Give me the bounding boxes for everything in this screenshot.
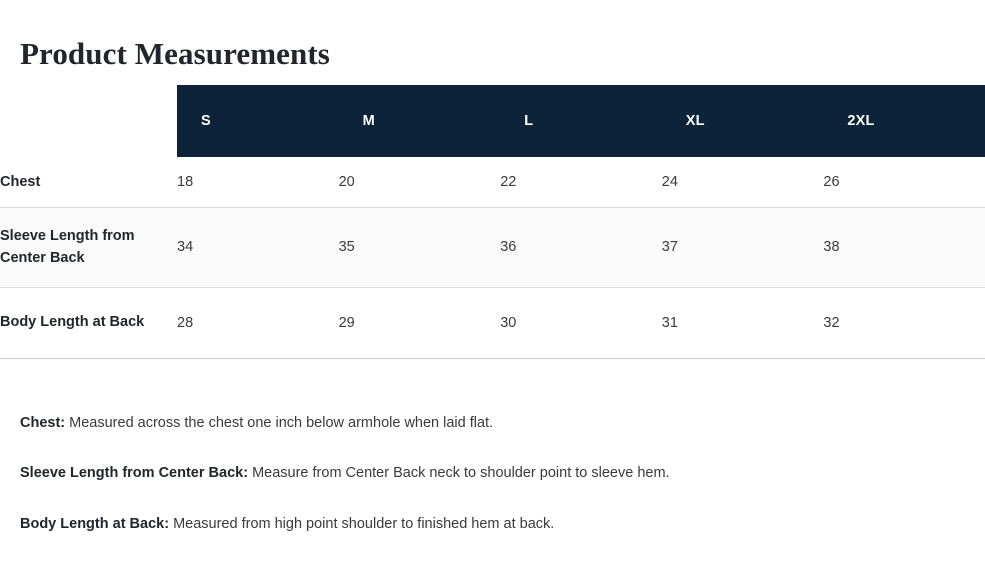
table-row: Sleeve Length from Center Back 34 35 36 …: [0, 207, 985, 287]
cell-chest-s: 18: [177, 157, 339, 207]
table-corner-header: [0, 85, 177, 157]
cell-body-m: 29: [339, 287, 501, 358]
product-measurements-page: Product Measurements S M L XL 2XL Chest …: [0, 0, 985, 562]
note-sleeve-length-description: Measure from Center Back neck to shoulde…: [252, 465, 669, 481]
row-label-chest: Chest: [0, 157, 177, 207]
cell-sleeve-xl: 37: [662, 207, 824, 287]
note-body-length-term: Body Length at Back:: [20, 516, 169, 532]
note-chest-description: Measured across the chest one inch below…: [69, 415, 493, 431]
column-header-xl-label: XL: [662, 113, 824, 129]
note-body-length-description: Measured from high point shoulder to fin…: [173, 516, 554, 532]
cell-chest-m: 20: [339, 157, 501, 207]
cell-body-xl: 31: [662, 287, 824, 358]
column-header-2xl-label: 2XL: [823, 113, 985, 129]
column-header-2xl: 2XL: [823, 85, 985, 157]
cell-body-l: 30: [500, 287, 662, 358]
column-header-l-label: L: [500, 113, 662, 129]
cell-chest-xl: 24: [662, 157, 824, 207]
note-chest-term: Chest:: [20, 415, 65, 431]
cell-sleeve-s: 34: [177, 207, 339, 287]
row-label-sleeve-length-from-center-back: Sleeve Length from Center Back: [0, 207, 177, 287]
page-title: Product Measurements: [20, 35, 330, 74]
note-sleeve-length: Sleeve Length from Center Back: Measure …: [20, 463, 965, 485]
table-body: Chest 18 20 22 24 26 Sleeve Length from …: [0, 157, 985, 358]
row-label-body-length-at-back: Body Length at Back: [0, 287, 177, 358]
table-header-row: S M L XL 2XL: [0, 85, 985, 157]
column-header-l: L: [500, 85, 662, 157]
cell-body-2xl: 32: [823, 287, 985, 358]
cell-sleeve-2xl: 38: [823, 207, 985, 287]
cell-sleeve-l: 36: [500, 207, 662, 287]
column-header-m: M: [339, 85, 501, 157]
column-header-s-label: S: [177, 113, 339, 129]
cell-body-s: 28: [177, 287, 339, 358]
table-row: Chest 18 20 22 24 26: [0, 157, 985, 207]
note-sleeve-length-term: Sleeve Length from Center Back:: [20, 465, 248, 481]
column-header-s: S: [177, 85, 339, 157]
column-header-m-label: M: [339, 113, 501, 129]
measurements-table: S M L XL 2XL Chest 18 20 22 24 26 Sleeve…: [0, 85, 985, 359]
table-header: S M L XL 2XL: [0, 85, 985, 157]
table-row: Body Length at Back 28 29 30 31 32: [0, 287, 985, 358]
cell-chest-2xl: 26: [823, 157, 985, 207]
note-chest: Chest: Measured across the chest one inc…: [20, 413, 965, 435]
cell-chest-l: 22: [500, 157, 662, 207]
cell-sleeve-m: 35: [339, 207, 501, 287]
column-header-xl: XL: [662, 85, 824, 157]
note-body-length: Body Length at Back: Measured from high …: [20, 514, 965, 536]
measurement-notes: Chest: Measured across the chest one inc…: [20, 398, 965, 536]
